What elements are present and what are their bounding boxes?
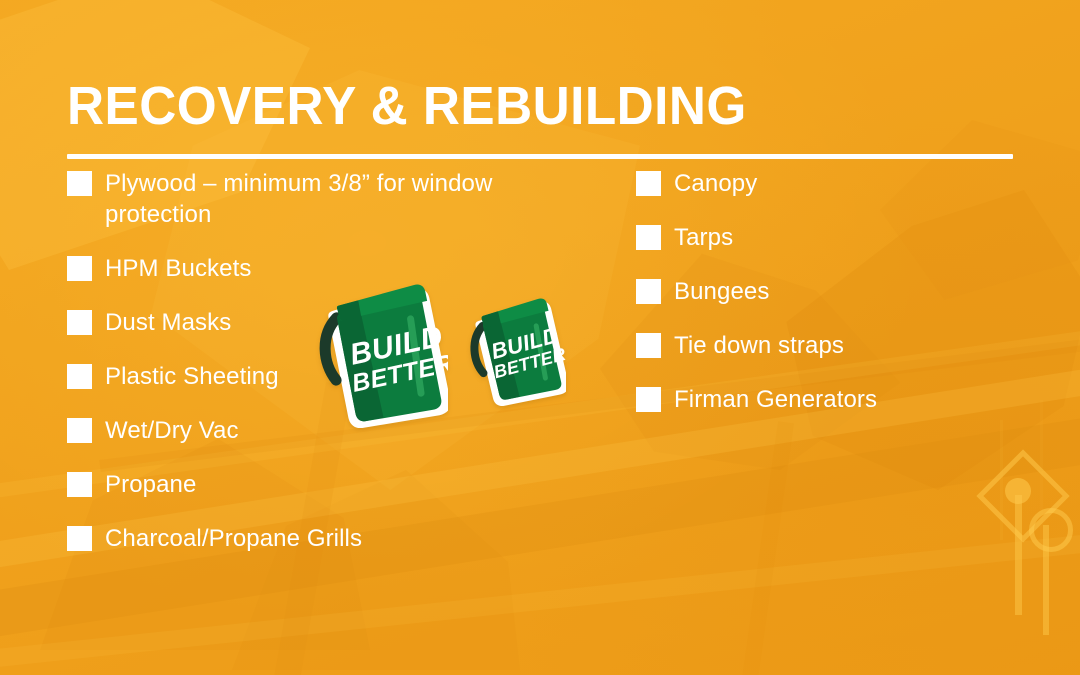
title-divider [67,154,1013,159]
checkbox-icon[interactable] [67,256,92,281]
list-item-label: Charcoal/Propane Grills [105,523,362,554]
checkbox-icon[interactable] [636,225,661,250]
list-item-label: HPM Buckets [105,253,251,284]
checklist-right-column: Canopy Tarps Bungees Tie down straps Fir… [636,168,1036,438]
list-item-label: Tarps [674,222,733,253]
list-item[interactable]: Firman Generators [636,384,1036,415]
checkbox-icon[interactable] [636,279,661,304]
checkbox-icon[interactable] [67,526,92,551]
checkbox-icon[interactable] [67,418,92,443]
list-item-label: Bungees [674,276,769,307]
checkbox-icon[interactable] [67,171,92,196]
build-better-logo: BUILD BETTER BU [316,278,578,443]
list-item-label: Firman Generators [674,384,877,415]
poster-header: RECOVERY & REBUILDING [67,78,1013,159]
list-item-label: Dust Masks [105,307,231,338]
list-item[interactable]: Tie down straps [636,330,1036,361]
list-item[interactable]: Canopy [636,168,1036,199]
checkbox-icon[interactable] [67,472,92,497]
build-better-bucket-large-icon: BUILD BETTER [316,280,448,428]
build-better-bucket-small-icon: BUILD BETTER [466,296,566,406]
list-item-label: Wet/Dry Vac [105,415,239,446]
list-item[interactable]: Propane [67,469,497,500]
checkbox-icon[interactable] [636,171,661,196]
checkbox-icon[interactable] [636,387,661,412]
page-title: RECOVERY & REBUILDING [67,78,966,134]
list-item-label: Propane [105,469,196,500]
list-item-label: Plywood – minimum 3/8” for window protec… [105,168,497,230]
list-item[interactable]: Charcoal/Propane Grills [67,523,497,554]
list-item-label: Canopy [674,168,757,199]
poster-canvas: RECOVERY & REBUILDING Plywood – minimum … [0,0,1080,675]
list-item-label: Tie down straps [674,330,844,361]
list-item[interactable]: Bungees [636,276,1036,307]
list-item-label: Plastic Sheeting [105,361,279,392]
checkbox-icon[interactable] [636,333,661,358]
list-item[interactable]: Tarps [636,222,1036,253]
list-item[interactable]: Plywood – minimum 3/8” for window protec… [67,168,497,230]
checkbox-icon[interactable] [67,310,92,335]
checkbox-icon[interactable] [67,364,92,389]
